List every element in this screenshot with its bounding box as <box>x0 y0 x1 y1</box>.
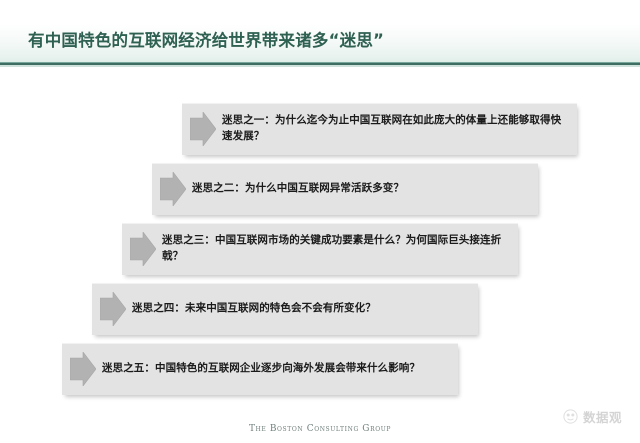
panda-circle-icon <box>563 409 578 424</box>
myth-text-2: 迷思之二：为什么中国互联网异常活跃多变？ <box>192 181 538 197</box>
myth-row-1[interactable]: 迷思之一：为什么迄今为止中国互联网在如此庞大的体量上还能够取得快速发展？ <box>182 103 577 155</box>
myth-row-2[interactable]: 迷思之二：为什么中国互联网异常活跃多变？ <box>152 163 538 215</box>
myth-text-3: 迷思之三：中国互联网市场的关键成功要素是什么？为何国际巨头接连折戟？ <box>162 233 518 265</box>
myth-row-3[interactable]: 迷思之三：中国互联网市场的关键成功要素是什么？为何国际巨头接连折戟？ <box>122 223 518 275</box>
myth-row-5[interactable]: 迷思之五：中国特色的互联网企业逐步向海外发展会带来什么影响？ <box>62 343 458 395</box>
right-arrow-icon <box>160 172 186 206</box>
myth-text-4: 迷思之四：未来中国互联网的特色会不会有所变化？ <box>132 301 478 317</box>
myth-text-1: 迷思之一：为什么迄今为止中国互联网在如此庞大的体量上还能够取得快速发展？ <box>222 113 577 145</box>
bcg-logo: The Boston Consulting Group <box>0 424 640 434</box>
myth-text-5: 迷思之五：中国特色的互联网企业逐步向海外发展会带来什么影响？ <box>102 361 458 377</box>
right-arrow-icon <box>100 292 126 326</box>
right-arrow-icon <box>190 112 216 146</box>
myth-row-4[interactable]: 迷思之四：未来中国互联网的特色会不会有所变化？ <box>92 283 478 335</box>
page-title: 有中国特色的互联网经济给世界带来诸多“迷思” <box>28 27 384 51</box>
title-divider-soft <box>0 65 640 67</box>
right-arrow-icon <box>70 352 96 386</box>
right-arrow-icon <box>130 232 156 266</box>
slide-canvas: 有中国特色的互联网经济给世界带来诸多“迷思” 迷思之一：为什么迄今为止中国互联网… <box>0 0 640 443</box>
